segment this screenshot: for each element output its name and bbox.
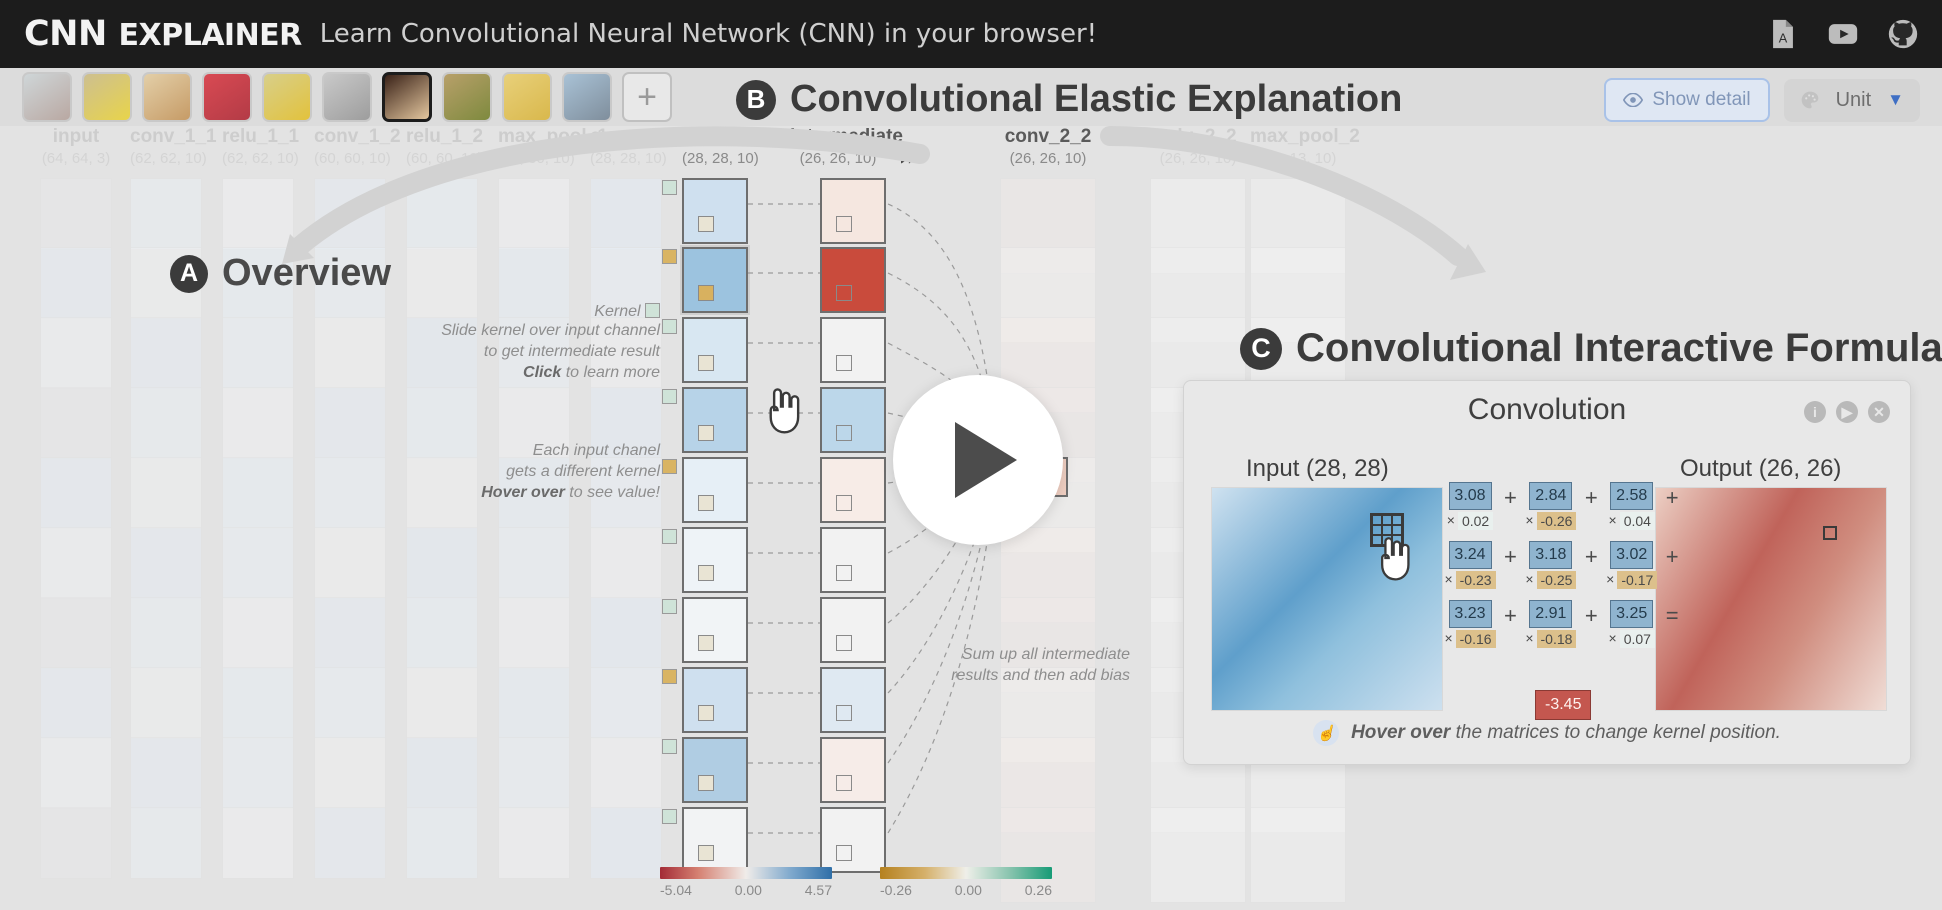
section-b-title: Convolutional Elastic Explanation	[790, 78, 1402, 121]
relu-2-1-node[interactable]	[682, 247, 748, 313]
feature-map-node[interactable]	[314, 387, 386, 459]
multiply-sign: ×	[1444, 571, 1452, 589]
thumbnail-6[interactable]	[382, 72, 432, 122]
input-value: 2.58	[1610, 482, 1653, 510]
kernel-weight: 0.07	[1620, 630, 1655, 648]
feature-map-node[interactable]	[40, 387, 112, 459]
intermediate-node[interactable]	[820, 807, 886, 873]
intermediate-node[interactable]	[820, 317, 886, 383]
formula-result: -3.45	[1535, 690, 1591, 720]
layer-column-input[interactable]: input(64, 64, 3)	[40, 126, 112, 167]
channel-kernel-annotation: Each input chanel gets a different kerne…	[400, 440, 660, 503]
formula-row: 3.24×-0.23+3.18×-0.25+3.02×-0.17+	[1446, 541, 1689, 589]
feature-map-node[interactable]	[222, 737, 294, 809]
channel-line-3: Hover over to see value!	[400, 482, 660, 503]
feature-map-node[interactable]	[222, 317, 294, 389]
intermediate-node[interactable]	[820, 527, 886, 593]
feature-map-node[interactable]	[406, 737, 478, 809]
input-matrix[interactable]	[1211, 487, 1443, 711]
kernel-chip[interactable]	[662, 389, 677, 404]
section-a-badge: A	[170, 255, 208, 293]
header-icon-group: A	[1766, 17, 1920, 51]
output-cell-marker	[1823, 526, 1837, 540]
kernel-chip[interactable]	[662, 739, 677, 754]
hand-cursor-network	[760, 386, 802, 443]
kernel-weight: 0.02	[1458, 512, 1493, 530]
feature-map-node[interactable]	[314, 457, 386, 529]
layer-title-input: input	[40, 126, 112, 148]
eye-icon	[1623, 93, 1643, 107]
sum-bias-annotation: Sum up all intermediate results and then…	[890, 644, 1130, 686]
formula-term: 3.24×-0.23	[1446, 541, 1494, 589]
layer-title-relu_2_1: relu_2_1	[682, 126, 754, 148]
intermediate-cell-marker	[836, 425, 852, 441]
intermediate-node[interactable]	[820, 667, 886, 733]
slide-click-rest: to learn more	[561, 364, 660, 381]
kernel-swatch-icon	[645, 303, 660, 318]
github-icon[interactable]	[1886, 17, 1920, 51]
layer-dims-relu_2_2: (26, 26, 10)	[1150, 150, 1246, 167]
feature-map-node[interactable]	[40, 317, 112, 389]
feature-map-node[interactable]	[498, 737, 570, 809]
feature-map-node[interactable]	[406, 807, 478, 879]
pdf-paper-icon[interactable]: A	[1766, 17, 1800, 51]
feature-map-node[interactable]	[590, 667, 662, 739]
activation-legend-min: -5.04	[660, 882, 692, 898]
weight-multiplier: ×-0.25	[1527, 571, 1575, 589]
kernel-weight: -0.26	[1537, 512, 1577, 530]
multiply-sign: ×	[1444, 630, 1452, 648]
feature-map-node[interactable]	[130, 527, 202, 599]
info-icon[interactable]: i	[1804, 401, 1826, 423]
svg-text:A: A	[1779, 32, 1788, 47]
relu-2-1-node[interactable]	[682, 597, 748, 663]
feature-map-node[interactable]	[406, 527, 478, 599]
kernel-window-marker	[698, 845, 714, 861]
weight-multiplier: ×-0.26	[1527, 512, 1575, 530]
intermediate-cell-marker	[836, 565, 852, 581]
multiply-sign: ×	[1447, 512, 1455, 530]
kernel-chip[interactable]	[662, 599, 677, 614]
kernel-window-marker	[698, 216, 714, 232]
feature-map-node[interactable]	[222, 807, 294, 879]
logo-main: CNN	[24, 14, 107, 54]
layer-column-max_pool_2[interactable]: max_pool_2(13, 13, 10)	[1250, 126, 1346, 167]
layer-dims-relu_1_1: (62, 62, 10)	[222, 150, 294, 167]
relu-2-1-node[interactable]	[682, 737, 748, 803]
relu-2-1-node[interactable]	[682, 457, 748, 523]
feature-map-node[interactable]	[40, 667, 112, 739]
layer-column-max_pool_1[interactable]: max_pool_1(30, 30, 10)	[498, 126, 570, 167]
layer-title-conv_1_2: conv_1_2	[314, 126, 386, 148]
weight-multiplier: ×-0.16	[1446, 630, 1494, 648]
thumbnail-2[interactable]	[142, 72, 192, 122]
kernel-chip[interactable]	[662, 319, 677, 334]
output-matrix[interactable]	[1655, 487, 1887, 711]
kernel-weight: -0.23	[1456, 571, 1496, 589]
thumbnail-3[interactable]	[202, 72, 252, 122]
hand-cursor-formula	[1372, 535, 1412, 590]
feature-map-node[interactable]	[40, 247, 112, 319]
slide-line-2: to get intermediate result	[370, 341, 660, 362]
formula-term: 3.23×-0.16	[1446, 600, 1494, 648]
unit-select[interactable]: Unit ▼	[1784, 79, 1920, 122]
kernel-weight: -0.17	[1617, 571, 1657, 589]
layer-dims-max_pool_2: (13, 13, 10)	[1250, 150, 1346, 167]
feature-map-node[interactable]	[406, 597, 478, 669]
layer-dims-conv_2_1: (28, 28, 10)	[590, 150, 662, 167]
relu-2-1-node[interactable]	[682, 317, 748, 383]
feature-map-node[interactable]	[498, 527, 570, 599]
kernel-annotation: Kernel	[440, 301, 660, 322]
feature-map-node[interactable]	[222, 597, 294, 669]
feature-map-node[interactable]	[498, 178, 570, 250]
kernel-window-marker	[698, 425, 714, 441]
kernel-chip[interactable]	[662, 529, 677, 544]
kernel-chip[interactable]	[662, 459, 677, 474]
formula-term: 2.91×-0.18	[1527, 600, 1575, 648]
layer-title-intermediate: intermediate	[790, 126, 886, 148]
chevron-down-icon: ▼	[1887, 90, 1904, 110]
multiply-sign: ×	[1609, 512, 1617, 530]
relu-2-1-node[interactable]	[682, 527, 748, 593]
slide-click-bold: Click	[523, 364, 561, 381]
feature-map-node[interactable]	[590, 737, 662, 809]
feature-map-node[interactable]	[40, 597, 112, 669]
input-matrix-label: Input (28, 28)	[1246, 455, 1389, 483]
input-value: 3.23	[1449, 600, 1492, 628]
layer-dims-intermediate: (26, 26, 10)	[790, 150, 886, 167]
kernel-window-marker	[698, 775, 714, 791]
kernel-legend-bar	[880, 867, 1052, 879]
convolution-formula: 3.08×0.02+2.84×-0.26+2.58×0.04+3.24×-0.2…	[1446, 482, 1689, 659]
feature-map-node[interactable]	[130, 667, 202, 739]
layer-dims-conv_1_2: (60, 60, 10)	[314, 150, 386, 167]
input-value: 3.18	[1529, 541, 1572, 569]
layer-title-relu_2_2: relu_2_2	[1150, 126, 1246, 148]
feature-map-node[interactable]	[314, 667, 386, 739]
formula-term: 3.25×0.07	[1608, 600, 1656, 648]
input-value: 2.84	[1529, 482, 1572, 510]
intermediate-cell-marker	[836, 705, 852, 721]
card-footer-hint: ☝ Hover over the matrices to change kern…	[1184, 720, 1910, 746]
equals-sign: =	[1656, 600, 1689, 629]
section-c-heading: C Convolutional Interactive Formula	[1240, 326, 1942, 371]
input-value: 3.24	[1449, 541, 1492, 569]
sum-line-1: Sum up all intermediate	[890, 644, 1130, 665]
thumbnail-1[interactable]	[82, 72, 132, 122]
plus-sign: +	[1494, 541, 1527, 570]
activation-legend-max: 4.57	[805, 882, 832, 898]
app-tagline: Learn Convolutional Neural Network (CNN)…	[320, 19, 1097, 49]
intermediate-node[interactable]	[820, 178, 886, 244]
kernel-legend: -0.26 0.00 0.26	[880, 867, 1052, 898]
feature-map-node[interactable]	[222, 457, 294, 529]
layer-column-conv_2_2[interactable]: conv_2_2(26, 26, 10)	[1000, 126, 1096, 167]
thumbnail-9[interactable]	[562, 72, 612, 122]
kernel-chip[interactable]	[662, 180, 677, 195]
layer-title-max_pool_2: max_pool_2	[1250, 126, 1346, 148]
kernel-chip[interactable]	[662, 249, 677, 264]
activation-legend-mid: 0.00	[735, 882, 762, 898]
unit-label: Unit	[1836, 89, 1872, 112]
intermediate-cell-marker	[836, 355, 852, 371]
feature-map-node[interactable]	[314, 178, 386, 250]
feature-map-node[interactable]	[222, 178, 294, 250]
activation-legend: -5.04 0.00 4.57	[660, 867, 832, 898]
intermediate-node[interactable]	[820, 247, 886, 313]
formula-row: 3.23×-0.16+2.91×-0.18+3.25×0.07=	[1446, 600, 1689, 648]
add-image-button[interactable]: +	[622, 72, 672, 122]
layer-column-conv_2_1[interactable]: conv_2_1(28, 28, 10)	[590, 126, 662, 167]
multiply-sign: ×	[1525, 571, 1533, 589]
relu-2-1-node[interactable]	[682, 178, 748, 244]
play-triangle-icon	[955, 422, 1017, 498]
thumbnail-8[interactable]	[502, 72, 552, 122]
plus-sign: +	[1494, 482, 1527, 511]
card-title: Convolution	[1184, 381, 1910, 427]
show-detail-label: Show detail	[1652, 89, 1750, 111]
kernel-weight: -0.25	[1537, 571, 1577, 589]
layer-dims-input: (64, 64, 3)	[40, 150, 112, 167]
feature-map-node[interactable]	[590, 597, 662, 669]
intermediate-cell-marker	[836, 635, 852, 651]
plus-sign: +	[1575, 482, 1608, 511]
layer-column-conv_1_2[interactable]: conv_1_2(60, 60, 10)	[314, 126, 386, 167]
intermediate-cell-marker	[836, 285, 852, 301]
feature-map-node[interactable]	[222, 527, 294, 599]
kernel-legend-max: 0.26	[1025, 882, 1052, 898]
thumbnail-5[interactable]	[322, 72, 372, 122]
feature-map-node[interactable]	[1150, 807, 1246, 903]
palette-icon	[1800, 90, 1820, 110]
app-logo[interactable]: CNN EXPLAINER	[24, 14, 302, 54]
feature-map-node[interactable]	[1250, 807, 1346, 903]
multiply-sign: ×	[1525, 512, 1533, 530]
feature-map-node[interactable]	[590, 178, 662, 250]
logo-sub: EXPLAINER	[118, 18, 301, 53]
feature-map-node[interactable]	[40, 457, 112, 529]
card-tool-group: i ▶ ✕	[1804, 401, 1890, 423]
feature-map-node[interactable]	[222, 387, 294, 459]
layer-title-relu_1_2: relu_1_2	[406, 126, 478, 148]
intermediate-node[interactable]	[820, 387, 886, 453]
colorbar-legends: -5.04 0.00 4.57 -0.26 0.00 0.26	[660, 867, 1052, 898]
feature-map-node[interactable]	[130, 178, 202, 250]
channel-line-2: gets a different kernel	[400, 461, 660, 482]
layer-title-max_pool_1: max_pool_1	[498, 126, 570, 148]
plus-sign: +	[1656, 482, 1689, 511]
formula-term: 3.02×-0.17	[1608, 541, 1656, 589]
feature-map-node[interactable]	[498, 667, 570, 739]
kernel-chip[interactable]	[662, 809, 677, 824]
kernel-weight: 0.04	[1620, 512, 1655, 530]
formula-term: 3.18×-0.25	[1527, 541, 1575, 589]
sum-line-2: results and then add bias	[890, 665, 1130, 686]
section-a-heading: A Overview	[170, 252, 391, 295]
top-bar: CNN EXPLAINER Learn Convolutional Neural…	[0, 0, 1942, 68]
intermediate-cell-marker	[836, 216, 852, 232]
section-c-title: Convolutional Interactive Formula	[1296, 326, 1942, 371]
relu-2-1-node[interactable]	[682, 667, 748, 733]
kernel-window-marker	[698, 495, 714, 511]
kernel-label: Kernel	[594, 303, 640, 320]
layer-dims-max_pool_1: (30, 30, 10)	[498, 150, 570, 167]
layer-dims-relu_1_2: (60, 60, 10)	[406, 150, 478, 167]
intermediate-node[interactable]	[820, 597, 886, 663]
feature-map-node[interactable]	[406, 178, 478, 250]
slide-kernel-annotation: Slide kernel over input channel to get i…	[370, 320, 660, 383]
slide-line-3: Click to learn more	[370, 362, 660, 383]
feature-map-node[interactable]	[130, 737, 202, 809]
fast-forward-icon[interactable]: ⏭	[900, 144, 920, 170]
kernel-weight: -0.18	[1537, 630, 1577, 648]
layer-column-relu_1_2[interactable]: relu_1_2(60, 60, 10)	[406, 126, 478, 167]
layer-column-conv_1_1[interactable]: conv_1_1(62, 62, 10)	[130, 126, 202, 167]
layer-title-conv_1_1: conv_1_1	[130, 126, 202, 148]
intermediate-cell-marker	[836, 775, 852, 791]
layer-column-relu_1_1[interactable]: relu_1_1(62, 62, 10)	[222, 126, 294, 167]
input-value: 2.91	[1529, 600, 1572, 628]
kernel-weight: -0.16	[1456, 630, 1496, 648]
kernel-legend-min: -0.26	[880, 882, 912, 898]
kernel-window-marker	[698, 285, 714, 301]
layer-column-intermediate[interactable]: intermediate(26, 26, 10)	[790, 126, 886, 167]
footer-bold: Hover over	[1351, 722, 1450, 743]
thumbnail-0[interactable]	[22, 72, 72, 122]
footer-rest: the matrices to change kernel position.	[1450, 722, 1781, 743]
show-detail-button[interactable]: Show detail	[1604, 78, 1769, 122]
feature-map-node[interactable]	[590, 527, 662, 599]
play-icon[interactable]: ▶	[1836, 401, 1858, 423]
formula-term: 2.58×0.04	[1608, 482, 1656, 530]
intermediate-cell-marker	[836, 845, 852, 861]
weight-multiplier: ×-0.18	[1527, 630, 1575, 648]
multiply-sign: ×	[1525, 630, 1533, 648]
activation-legend-bar	[660, 867, 832, 879]
plus-sign: +	[1494, 600, 1527, 629]
kernel-chip[interactable]	[662, 669, 677, 684]
feature-map-node[interactable]	[498, 807, 570, 879]
kernel-window-marker	[698, 355, 714, 371]
feature-map-node[interactable]	[40, 737, 112, 809]
layer-column-relu_2_1[interactable]: relu_2_1(28, 28, 10)	[682, 126, 754, 167]
feature-map-node[interactable]	[314, 597, 386, 669]
layer-dims-conv_1_1: (62, 62, 10)	[130, 150, 202, 167]
feature-map-node[interactable]	[130, 597, 202, 669]
feature-map-node[interactable]	[40, 527, 112, 599]
layer-title-conv_2_1: conv_2_1	[590, 126, 662, 148]
channel-hover-bold: Hover over	[481, 484, 565, 501]
thumbnail-4[interactable]	[262, 72, 312, 122]
close-icon[interactable]: ✕	[1868, 401, 1890, 423]
thumbnail-7[interactable]	[442, 72, 492, 122]
section-b-heading: B Convolutional Elastic Explanation	[736, 78, 1402, 121]
weight-multiplier: ×0.04	[1608, 512, 1656, 530]
formula-row: 3.08×0.02+2.84×-0.26+2.58×0.04+	[1446, 482, 1689, 530]
formula-term: 3.08×0.02	[1446, 482, 1494, 530]
feature-map-node[interactable]	[498, 597, 570, 669]
input-value: 3.25	[1610, 600, 1653, 628]
layer-column-relu_2_2[interactable]: relu_2_2(26, 26, 10)	[1150, 126, 1246, 167]
kernel-legend-mid: 0.00	[955, 882, 982, 898]
layer-title-conv_2_2: conv_2_2	[1000, 126, 1096, 148]
kernel-window-marker	[698, 705, 714, 721]
layer-dims-relu_2_1: (28, 28, 10)	[682, 150, 754, 167]
weight-multiplier: ×0.02	[1446, 512, 1494, 530]
feature-map-node[interactable]	[130, 457, 202, 529]
slide-line-1: Slide kernel over input channel	[370, 320, 660, 341]
section-b-badge: B	[736, 80, 776, 120]
feature-map-node[interactable]	[130, 807, 202, 879]
feature-map-node[interactable]	[130, 317, 202, 389]
section-a-title: Overview	[222, 252, 391, 295]
weight-multiplier: ×0.07	[1608, 630, 1656, 648]
feature-map-node[interactable]	[222, 667, 294, 739]
intermediate-node[interactable]	[820, 737, 886, 803]
feature-map-node[interactable]	[130, 387, 202, 459]
play-overlay-button[interactable]	[893, 375, 1063, 545]
output-matrix-label: Output (26, 26)	[1680, 455, 1841, 483]
relu-2-1-node[interactable]	[682, 387, 748, 453]
plus-sign: +	[1575, 541, 1608, 570]
feature-map-node[interactable]	[314, 527, 386, 599]
feature-map-node[interactable]	[314, 807, 386, 879]
relu-2-1-node[interactable]	[682, 807, 748, 873]
layer-dims-conv_2_2: (26, 26, 10)	[1000, 150, 1096, 167]
plus-sign: +	[1575, 600, 1608, 629]
kernel-window-marker	[698, 635, 714, 651]
channel-hover-rest: to see value!	[565, 484, 660, 501]
channel-line-1: Each input chanel	[400, 440, 660, 461]
multiply-sign: ×	[1606, 571, 1614, 589]
view-controls: Show detail Unit ▼	[1604, 78, 1920, 122]
feature-map-node[interactable]	[40, 178, 112, 250]
layer-title-relu_1_1: relu_1_1	[222, 126, 294, 148]
input-value: 3.02	[1610, 541, 1653, 569]
input-value: 3.08	[1449, 482, 1492, 510]
feature-map-node[interactable]	[406, 667, 478, 739]
formula-term: 2.84×-0.26	[1527, 482, 1575, 530]
kernel-window-marker	[698, 565, 714, 581]
intermediate-node[interactable]	[820, 457, 886, 523]
weight-multiplier: ×-0.23	[1446, 571, 1494, 589]
feature-map-node[interactable]	[590, 807, 662, 879]
multiply-sign: ×	[1609, 630, 1617, 648]
plus-sign: +	[1656, 541, 1689, 570]
feature-map-node[interactable]	[40, 807, 112, 879]
intermediate-cell-marker	[836, 495, 852, 511]
weight-multiplier: ×-0.17	[1608, 571, 1656, 589]
youtube-video-icon[interactable]	[1826, 17, 1860, 51]
section-c-badge: C	[1240, 328, 1282, 370]
feature-map-node[interactable]	[314, 737, 386, 809]
hand-pointer-icon: ☝	[1313, 720, 1339, 746]
